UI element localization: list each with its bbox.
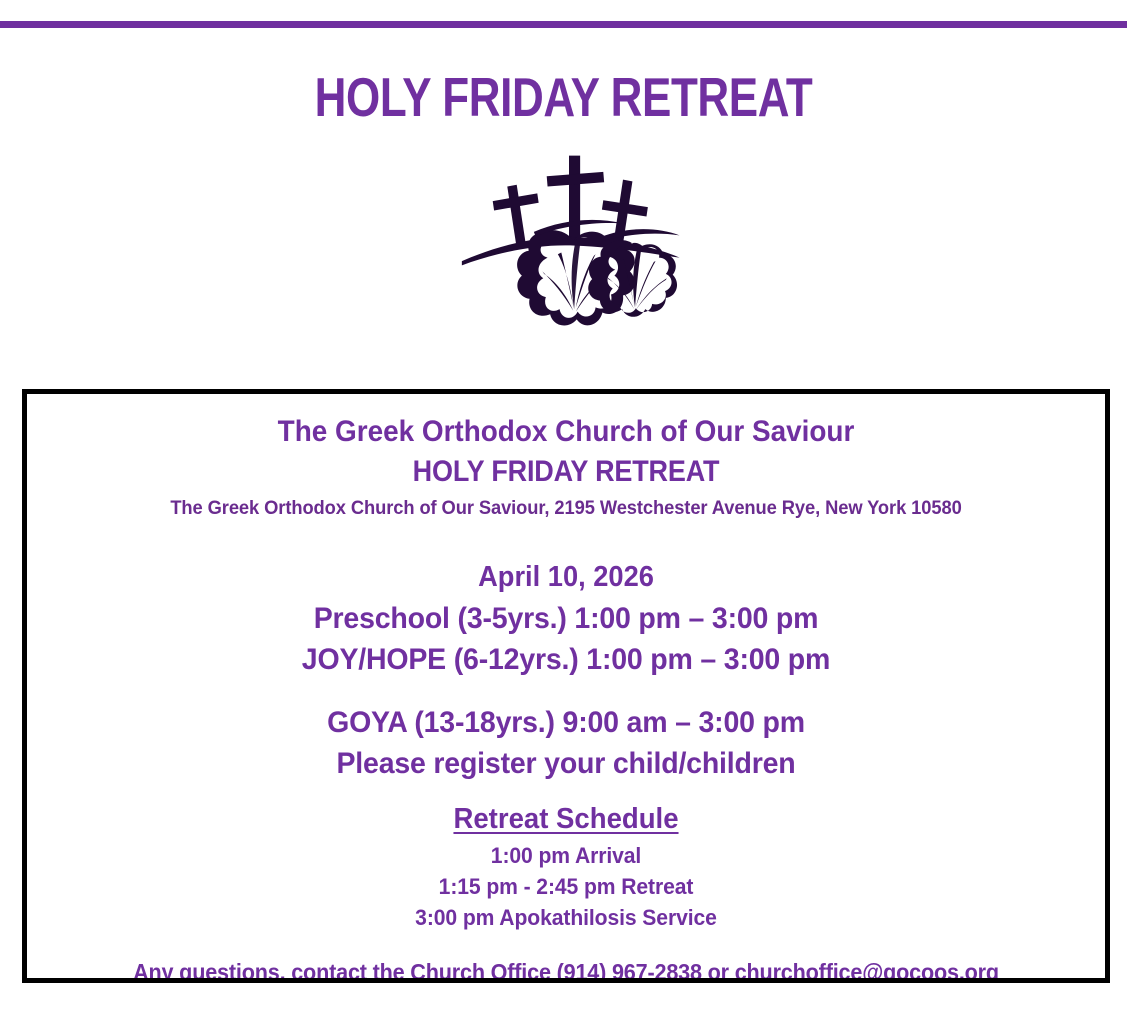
top-accent-rule <box>0 21 1127 28</box>
register-note: Please register your child/children <box>67 743 1065 784</box>
spacer-after-address <box>41 524 1091 556</box>
spacer-before-contact <box>41 933 1091 955</box>
event-date: April 10, 2026 <box>73 556 1060 598</box>
schedule-item-apokathilosis: 3:00 pm Apokathilosis Service <box>62 902 1070 933</box>
schedule-item-arrival: 1:00 pm Arrival <box>62 840 1070 871</box>
spacer-before-schedule <box>41 784 1091 798</box>
flyer-details-content: The Greek Orthodox Church of Our Saviour… <box>27 394 1105 983</box>
event-title: HOLY FRIDAY RETREAT <box>94 452 1039 492</box>
contact-line: Any questions, contact the Church Office… <box>73 955 1060 983</box>
page-title: HOLY FRIDAY RETREAT <box>113 66 1015 128</box>
schedule-item-retreat: 1:15 pm - 2:45 pm Retreat <box>62 871 1070 902</box>
three-crosses-and-lilies-icon <box>455 140 695 365</box>
session-preschool: Preschool (3-5yrs.) 1:00 pm – 3:00 pm <box>67 598 1065 639</box>
flyer-details-box: The Greek Orthodox Church of Our Saviour… <box>22 389 1110 983</box>
session-joy-hope: JOY/HOPE (6-12yrs.) 1:00 pm – 3:00 pm <box>67 639 1065 680</box>
schedule-heading: Retreat Schedule <box>67 798 1065 840</box>
spacer-before-goya <box>41 680 1091 702</box>
church-address: The Greek Orthodox Church of Our Saviour… <box>73 492 1060 524</box>
session-goya: GOYA (13-18yrs.) 9:00 am – 3:00 pm <box>67 702 1065 743</box>
church-name: The Greek Orthodox Church of Our Saviour <box>78 412 1055 452</box>
